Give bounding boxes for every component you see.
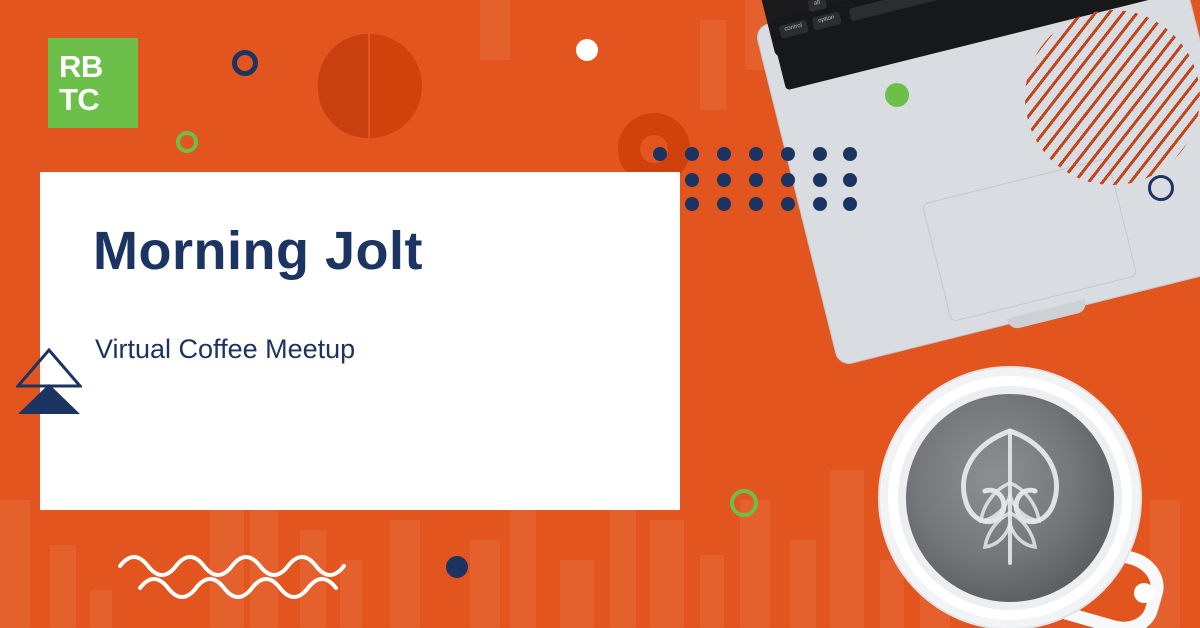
key-control: control bbox=[779, 19, 809, 38]
banner-canvas: control option alt X C V bbox=[0, 0, 1200, 628]
white-dot-bottom-right-icon bbox=[1134, 583, 1154, 603]
green-dot-top bbox=[885, 83, 909, 107]
white-dot-top bbox=[576, 39, 598, 61]
key-option: option bbox=[812, 11, 842, 30]
latte-art-icon bbox=[925, 413, 1095, 583]
content-card: Morning Jolt Virtual Coffee Meetup bbox=[40, 172, 680, 510]
triangle-solid-navy-icon bbox=[16, 384, 82, 416]
green-ring-bottom-icon bbox=[730, 489, 758, 517]
navy-thin-ring bbox=[1148, 175, 1174, 201]
logo-line-1: RB bbox=[59, 50, 103, 83]
green-ring-small-icon bbox=[176, 131, 198, 153]
hatched-circle-decoration bbox=[1025, 10, 1200, 185]
coffee-surface bbox=[906, 394, 1114, 602]
key-blank-1 bbox=[848, 0, 997, 21]
logo-line-2: TC bbox=[59, 83, 99, 116]
page-subtitle: Virtual Coffee Meetup bbox=[95, 334, 355, 365]
triangle-outline-icon bbox=[16, 348, 82, 388]
page-title: Morning Jolt bbox=[93, 220, 423, 282]
rbtc-logo: RB TC bbox=[48, 38, 138, 128]
key-alt: alt bbox=[807, 0, 827, 12]
white-squiggle-icon bbox=[118, 544, 378, 600]
navy-dot-bottom-icon bbox=[446, 556, 468, 578]
navy-dot-grid bbox=[652, 146, 858, 212]
navy-ring-small-icon bbox=[232, 50, 258, 76]
